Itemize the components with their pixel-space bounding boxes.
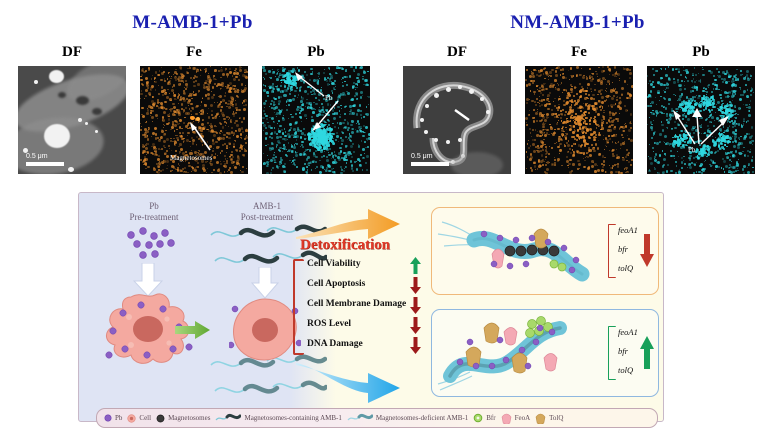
scale-bar-label: 0.5 μm [26, 153, 48, 160]
panel-row-nm-amb1: DF [385, 44, 770, 184]
panel-label-df: DF [18, 44, 126, 61]
gold-protein-icon [535, 412, 546, 424]
gene-trend-arrow-up [640, 336, 654, 370]
scale-bar [411, 162, 449, 166]
bright-spot [425, 104, 429, 108]
bright-spot [446, 140, 450, 144]
gene-tolQ: tolQ [618, 263, 633, 273]
bright-spot [458, 138, 462, 142]
metric-label-dna-damage: DNA Damage [307, 339, 363, 349]
pb-arrow-right [697, 114, 731, 146]
bright-spot [458, 85, 462, 89]
bright-aggregate [44, 124, 70, 148]
trend-arrow-down-dna-damage [410, 337, 421, 354]
orange-flow-arrow [294, 199, 404, 241]
bright-spot [434, 93, 439, 98]
gene-panel-magnetosome-deficient: feoA1 bfr tolQ [431, 309, 659, 397]
background-debris [451, 152, 503, 174]
legend-item-cell: Cell [127, 414, 151, 423]
trend-arrow-down-ros-level [410, 317, 421, 334]
group-title-nm-amb1: NM-AMB-1+Pb [385, 12, 770, 34]
legend-label-magnetosomes: Magnetosomes [168, 414, 210, 422]
legend-item-magnetosomes: Magnetosomes [156, 414, 210, 423]
purple-dot-icon [104, 414, 112, 422]
legend-item-bfr: Bfr [473, 413, 495, 423]
microscopy-group-nm-amb1: NM-AMB-1+Pb DF [385, 0, 770, 190]
bright-spot [78, 118, 82, 122]
magnetosome-containing-bacterium [436, 212, 596, 290]
healthy-cell [229, 297, 301, 363]
gene-bfr: bfr [618, 346, 628, 356]
bright-aggregate [49, 70, 64, 83]
trend-arrow-down-cell-membrane-damage [410, 297, 421, 314]
panel-image-fe [525, 66, 633, 174]
trend-arrow-down-cell-apoptosis [410, 277, 421, 294]
scale-bar [26, 162, 64, 166]
legend-label-pb: Pb [115, 414, 122, 422]
legend-label-tolq: TolQ [549, 414, 563, 422]
magnetosome-deficient-bacterium [436, 314, 596, 392]
panel-row-m-amb1: DF 0.5 μm Fe [0, 44, 385, 184]
pink-protein-icon [501, 412, 512, 424]
legend-label-feoa: FeoA [515, 414, 531, 422]
schematic-diagram: Pb Pre-treatment AMB-1 Post-treatment [78, 192, 664, 422]
gene-bfr: bfr [618, 244, 628, 254]
legend-label-cell: Cell [139, 414, 151, 422]
heading-pb-pretreatment: Pb Pre-treatment [99, 201, 209, 223]
gene-trend-arrow-down [640, 234, 654, 268]
panel-image-pb: Pb [647, 66, 755, 174]
gene-bracket-down [608, 224, 616, 278]
blue-flow-arrow [294, 361, 404, 403]
fe-hotspot [196, 117, 200, 121]
pb-arrow-lower [310, 98, 340, 132]
bright-spot [95, 130, 98, 133]
metric-label-ros-level: ROS Level [307, 319, 351, 329]
nucleus-region [76, 96, 89, 105]
white-down-arrow-top [251, 267, 279, 299]
figure-legend: Pb Cell Magnetosomes Magnetosomes-contai… [96, 408, 658, 428]
metric-label-cell-apoptosis: Cell Apoptosis [307, 279, 365, 289]
bright-spot [486, 110, 490, 114]
bright-spot [85, 122, 88, 125]
panel-image-df: 0.5 μm [18, 66, 126, 174]
pb-particle-cluster [121, 227, 181, 261]
pb-annotation: Pb [688, 146, 695, 154]
black-dot-icon [156, 414, 165, 423]
pink-cell-icon [127, 414, 136, 423]
legend-item-pb: Pb [104, 414, 122, 422]
nucleus-region [58, 92, 66, 98]
bright-spot [469, 89, 474, 94]
panel-label-fe: Fe [140, 44, 248, 61]
legend-item-magnetosomes-deficient-amb1: Magnetosomes-deficient AMB-1 [347, 412, 468, 424]
microscopy-group-m-amb1: M-AMB-1+Pb DF 0.5 μm [0, 0, 385, 190]
legend-item-magnetosomes-containing-amb1: Magnetosomes-containing AMB-1 [215, 412, 341, 424]
legend-label-magnetosomes-containing-amb1: Magnetosomes-containing AMB-1 [244, 414, 341, 422]
bright-spot [480, 97, 484, 101]
heading-line-1: AMB-1 [253, 201, 281, 211]
panel-label-pb: Pb [262, 44, 370, 61]
legend-item-tolq: TolQ [535, 412, 563, 424]
bright-spot [424, 130, 428, 134]
panel-image-pb: Pb [262, 66, 370, 174]
bright-spot [446, 87, 451, 92]
bright-spot [68, 167, 74, 172]
legend-item-feoa: FeoA [501, 412, 531, 424]
gene-feoA1: feoA1 [618, 225, 638, 235]
panel-label-pb: Pb [647, 44, 755, 61]
pb-annotation: Pb [325, 94, 332, 102]
fe-hotspot [190, 116, 195, 120]
panel-label-df: DF [403, 44, 511, 61]
panel-image-fe: Magnetosomes [140, 66, 248, 174]
panel-image-df: 0.5 μm [403, 66, 511, 174]
light-spiral-icon [347, 412, 373, 424]
bright-spot [434, 138, 438, 142]
detoxification-title: Detoxification [300, 237, 390, 254]
metric-label-cell-membrane-damage: Cell Membrane Damage [307, 299, 406, 309]
gene-panel-magnetosome-containing: feoA1 bfr tolQ [431, 207, 659, 295]
green-ring-icon [473, 413, 483, 423]
trend-arrow-up-cell-viability [410, 257, 421, 274]
gene-bracket-up [608, 326, 616, 380]
bright-spot [420, 118, 424, 122]
magnetosomes-arrow [188, 122, 214, 152]
legend-label-bfr: Bfr [486, 414, 495, 422]
gene-tolQ: tolQ [618, 365, 633, 375]
heading-line-1: Pb [149, 201, 159, 211]
magnetosomes-annotation: Magnetosomes [170, 154, 212, 162]
heading-line-2: Pre-treatment [130, 212, 179, 222]
dark-spiral-icon [215, 412, 241, 424]
bright-spot [34, 80, 38, 84]
nucleus-region [92, 108, 102, 115]
group-title-m-amb1: M-AMB-1+Pb [0, 12, 385, 34]
gene-feoA1: feoA1 [618, 327, 638, 337]
pb-arrow-upper [292, 72, 326, 98]
metric-label-cell-viability: Cell Viability [307, 259, 361, 269]
metrics-bracket [293, 259, 304, 355]
panel-label-fe: Fe [525, 44, 633, 61]
green-arrow [175, 321, 211, 339]
scale-bar-label: 0.5 μm [411, 153, 433, 160]
legend-label-magnetosomes-deficient-amb1: Magnetosomes-deficient AMB-1 [376, 414, 468, 422]
